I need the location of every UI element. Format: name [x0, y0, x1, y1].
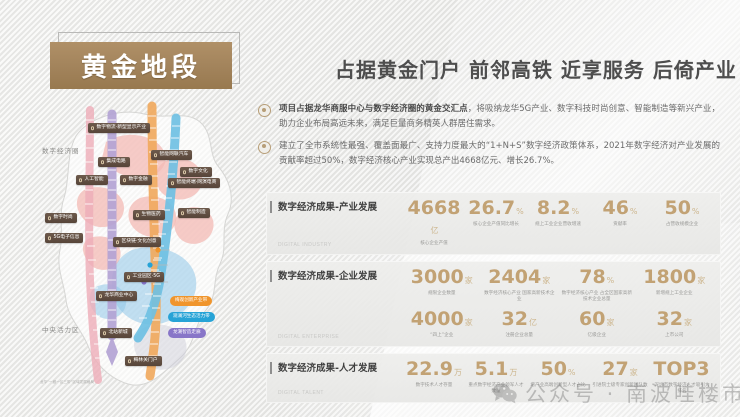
stat-number: 5.1: [475, 358, 509, 380]
stat-row-accent-bar: [270, 270, 272, 282]
map-industry-tag[interactable]: 5G电子信息: [45, 233, 83, 243]
stat-caption: 数字经济核心产业 占全区国家高新技术企业总量: [560, 291, 634, 304]
stat-row-header: 数字经济成果-人才发展DIGITAL TALENT: [266, 360, 403, 396]
stat-row-header: 数字经济成果-企业发展DIGITAL ENTERPRISE: [266, 268, 403, 340]
stat-row-watermark: DIGITAL INDUSTRY: [278, 242, 403, 248]
stat-number: 50: [540, 358, 566, 380]
stat-caption: 贡献率: [591, 222, 649, 229]
stat-cell: 32亿注册企业总量: [481, 310, 559, 340]
stat-cell: 32家上市公司: [636, 310, 714, 340]
map-corridor-pill[interactable]: 梅观创新产业带: [170, 296, 212, 306]
stat-unit: %: [630, 207, 638, 216]
stat-value: 50%: [529, 360, 587, 379]
stat-value: 26.7%: [467, 199, 525, 218]
stat-unit: 家: [697, 276, 705, 285]
bullet-item: 项目占据龙华商服中心与数字经济圈的黄金交汇点，将吸纳龙华5G产业、数字科技时尚创…: [258, 102, 720, 132]
stat-number: 4668: [408, 197, 461, 219]
map-zone-label: 中央活力区: [42, 324, 80, 334]
stat-value: 32家: [638, 310, 712, 329]
map-corridor-pill[interactable]: 观澜河生态活力带: [168, 312, 215, 322]
map-industry-tag[interactable]: 数字时尚: [45, 213, 77, 223]
watermark-text: 公众号 · 南波哇楼市: [525, 378, 740, 408]
title-badge-plate: 黄金地段: [50, 42, 232, 89]
stat-cell-group: 4668亿核心企业产值26.7%核心企业产值同比增长8.2%规上工业企业营收增速…: [403, 199, 713, 248]
stat-value: 2404家: [483, 268, 557, 287]
stat-cell-line: 4668亿核心企业产值26.7%核心企业产值同比增长8.2%规上工业企业营收增速…: [403, 199, 713, 248]
map-industry-tag[interactable]: 区块链·文化创意: [113, 237, 161, 247]
title-badge: 黄金地段: [50, 38, 240, 91]
stat-caption: 规上工业企业营收增速: [529, 222, 587, 229]
stat-unit: 万: [509, 368, 517, 377]
stat-caption: 注册企业总量: [483, 333, 557, 340]
stat-number: 26.7: [468, 197, 515, 219]
map-industry-tag[interactable]: 集成电路: [98, 157, 130, 167]
stat-value: 3000家: [405, 268, 479, 287]
bullet-text: 项目占据龙华商服中心与数字经济圈的黄金交汇点，将吸纳龙华5G产业、数字科技时尚创…: [279, 102, 720, 132]
bullet-lead: 项目占据龙华商服中心与数字经济圈的黄金交汇点: [279, 104, 468, 114]
stat-row-title: 数字经济成果-企业发展: [278, 268, 403, 282]
stat-cell: 4000家“四上”企业: [403, 310, 481, 340]
map-industry-tag[interactable]: 数字文化: [180, 167, 212, 177]
stat-number: 3000: [411, 266, 464, 288]
bullet-item: 建立了全市系统性最强、覆盖面最广、支持力度最大的“1+N+S”数字经济政策体系，…: [258, 139, 720, 169]
region-map: 数字经济圈中央活力区数字物流·新型显示产业集成电路智能网联汽车数字文化人工智能数…: [28, 100, 260, 400]
map-industry-tag[interactable]: 数字金融: [120, 175, 152, 185]
stat-cell-group: 3000家规限企业数量2404家数字经济核心产业 国家高新技术企业78%数字经济…: [403, 268, 713, 340]
stat-row-watermark: DIGITAL ENTERPRISE: [278, 334, 403, 340]
stat-row-title: 数字经济成果-人才发展: [278, 360, 403, 374]
stat-number: 4000: [411, 308, 464, 330]
map-industry-tag[interactable]: 北站新城: [100, 328, 132, 338]
stat-value: 27家: [591, 360, 649, 379]
stat-row: 数字经济成果-企业发展DIGITAL ENTERPRISE3000家规限企业数量…: [266, 261, 721, 347]
stat-cell: 4668亿核心企业产值: [403, 199, 465, 248]
stat-value: 78%: [560, 268, 634, 287]
map-caption: 龙华“一廊一区三带”区域发展格局: [40, 380, 94, 385]
stat-value: 1800家: [638, 268, 712, 287]
stat-row-watermark: DIGITAL TALENT: [278, 390, 403, 396]
stat-unit: %: [692, 207, 700, 216]
stat-number: 32: [502, 308, 528, 330]
stat-caption: 数字经济核心产业 国家高新技术企业: [483, 291, 557, 304]
stat-cell: 50%占营收规模企业: [651, 199, 713, 248]
slide-canvas: 黄金地段 占据黄金门户 前邻高铁 近享服务 后倚产业 项目占据龙华商服中心与数字…: [0, 0, 740, 417]
stat-unit: 家: [542, 276, 550, 285]
map-industry-tag[interactable]: 生物医药: [133, 210, 165, 220]
stat-caption: 规限企业数量: [405, 291, 479, 298]
watermark: 公众号 · 南波哇楼市: [492, 378, 740, 408]
stat-cell: 46%贡献率: [589, 199, 651, 248]
stat-caption: 上市公司: [638, 333, 712, 340]
stat-unit: 亿: [529, 318, 537, 327]
stat-cell: 8.2%规上工业企业营收增速: [527, 199, 589, 248]
stat-number: 27: [602, 358, 628, 380]
stat-caption: “四上”企业: [405, 333, 479, 340]
stat-unit: 亿: [431, 226, 439, 235]
stat-number: TOP3: [653, 358, 709, 380]
map-industry-tag[interactable]: 梅林关门户: [125, 356, 162, 366]
map-industry-tag[interactable]: 工业园区·5G: [124, 272, 164, 282]
stat-caption: 亿级企业: [560, 333, 634, 340]
stat-cell-line: 3000家规限企业数量2404家数字经济核心产业 国家高新技术企业78%数字经济…: [403, 268, 713, 304]
stat-unit: 万: [454, 368, 462, 377]
stat-unit: %: [568, 368, 576, 377]
stat-unit: %: [572, 207, 580, 216]
stat-number: 22.9: [406, 358, 453, 380]
stat-cell: 3000家规限企业数量: [403, 268, 481, 304]
stat-caption: 新增规上工业企业: [638, 291, 712, 298]
map-industry-tag[interactable]: 智能网联汽车: [151, 150, 192, 160]
stat-panel: 数字经济成果-产业发展DIGITAL INDUSTRY4668亿核心企业产值26…: [266, 192, 721, 409]
stat-value: 22.9万: [405, 360, 463, 379]
stat-value: 8.2%: [529, 199, 587, 218]
stat-row-header: 数字经济成果-产业发展DIGITAL INDUSTRY: [266, 199, 403, 248]
map-industry-tag[interactable]: 龙华商业中心: [96, 291, 137, 301]
map-industry-tag[interactable]: 数字物流·新型显示产业: [88, 123, 150, 133]
headline: 占据黄金门户 前邻高铁 近享服务 后倚产业: [335, 54, 737, 83]
stat-unit: %: [607, 276, 615, 285]
map-zone-label: 数字经济圈: [42, 145, 80, 155]
stat-row: 数字经济成果-产业发展DIGITAL INDUSTRY4668亿核心企业产值26…: [266, 192, 721, 255]
stat-number: 60: [579, 308, 605, 330]
stat-caption: 核心企业产值: [405, 241, 463, 248]
stat-cell: 78%数字经济核心产业 占全区国家高新技术企业总量: [558, 268, 636, 304]
stat-unit: %: [516, 207, 524, 216]
stat-value: 5.1万: [467, 360, 525, 379]
stat-cell: 22.9万数字技术人才存量: [403, 360, 465, 396]
stat-unit: 家: [465, 276, 473, 285]
stat-number: 78: [579, 266, 605, 288]
stat-value: 32亿: [483, 310, 557, 329]
stat-caption: 占营收规模企业: [653, 222, 711, 229]
map-corridor-pill[interactable]: 龙潮智造走廊: [168, 328, 206, 338]
stat-row-accent-bar: [270, 362, 272, 374]
wechat-icon: [492, 382, 518, 404]
bullet-list: 项目占据龙华商服中心与数字经济圈的黄金交汇点，将吸纳龙华5G产业、数字科技时尚创…: [258, 102, 720, 176]
stat-number: 46: [602, 197, 628, 219]
stat-unit: 家: [465, 318, 473, 327]
stat-unit: 家: [684, 318, 692, 327]
stat-value: 4000家: [405, 310, 479, 329]
stat-unit: 家: [606, 318, 614, 327]
stat-cell: 60家亿级企业: [558, 310, 636, 340]
stat-row-title: 数字经济成果-产业发展: [278, 199, 403, 213]
stat-number: 2404: [488, 266, 541, 288]
bullet-rest: 建立了全市系统性最强、覆盖面最广、支持力度最大的“1+N+S”数字经济政策体系，…: [279, 141, 720, 166]
stat-number: 32: [657, 308, 683, 330]
stat-row-accent-bar: [270, 201, 272, 213]
stat-cell: 26.7%核心企业产值同比增长: [465, 199, 527, 248]
stat-number: 8.2: [537, 197, 571, 219]
stat-value: 50%: [653, 199, 711, 218]
bullet-text: 建立了全市系统性最强、覆盖面最广、支持力度最大的“1+N+S”数字经济政策体系，…: [279, 139, 720, 169]
stat-value: 60家: [560, 310, 634, 329]
stat-cell: 1800家新增规上工业企业: [636, 268, 714, 304]
stat-number: 1800: [643, 266, 696, 288]
stat-cell: 2404家数字经济核心产业 国家高新技术企业: [481, 268, 559, 304]
stat-value: 4668亿: [405, 199, 463, 237]
title-badge-label: 黄金地段: [81, 47, 201, 84]
map-industry-tag[interactable]: 人工智能: [76, 175, 108, 185]
map-industry-tag[interactable]: 智能制造: [178, 208, 210, 218]
stat-caption: 核心企业产值同比增长: [467, 222, 525, 229]
stat-unit: 家: [630, 368, 638, 377]
stat-value: 46%: [591, 199, 649, 218]
stat-number: 50: [664, 197, 690, 219]
stat-value: TOP3: [653, 360, 711, 379]
stat-cell-line: 4000家“四上”企业32亿注册企业总量60家亿级企业32家上市公司: [403, 310, 713, 340]
stat-caption: 数字技术人才存量: [405, 383, 463, 390]
map-industry-tag[interactable]: 智能终端·网演电商: [168, 178, 220, 188]
